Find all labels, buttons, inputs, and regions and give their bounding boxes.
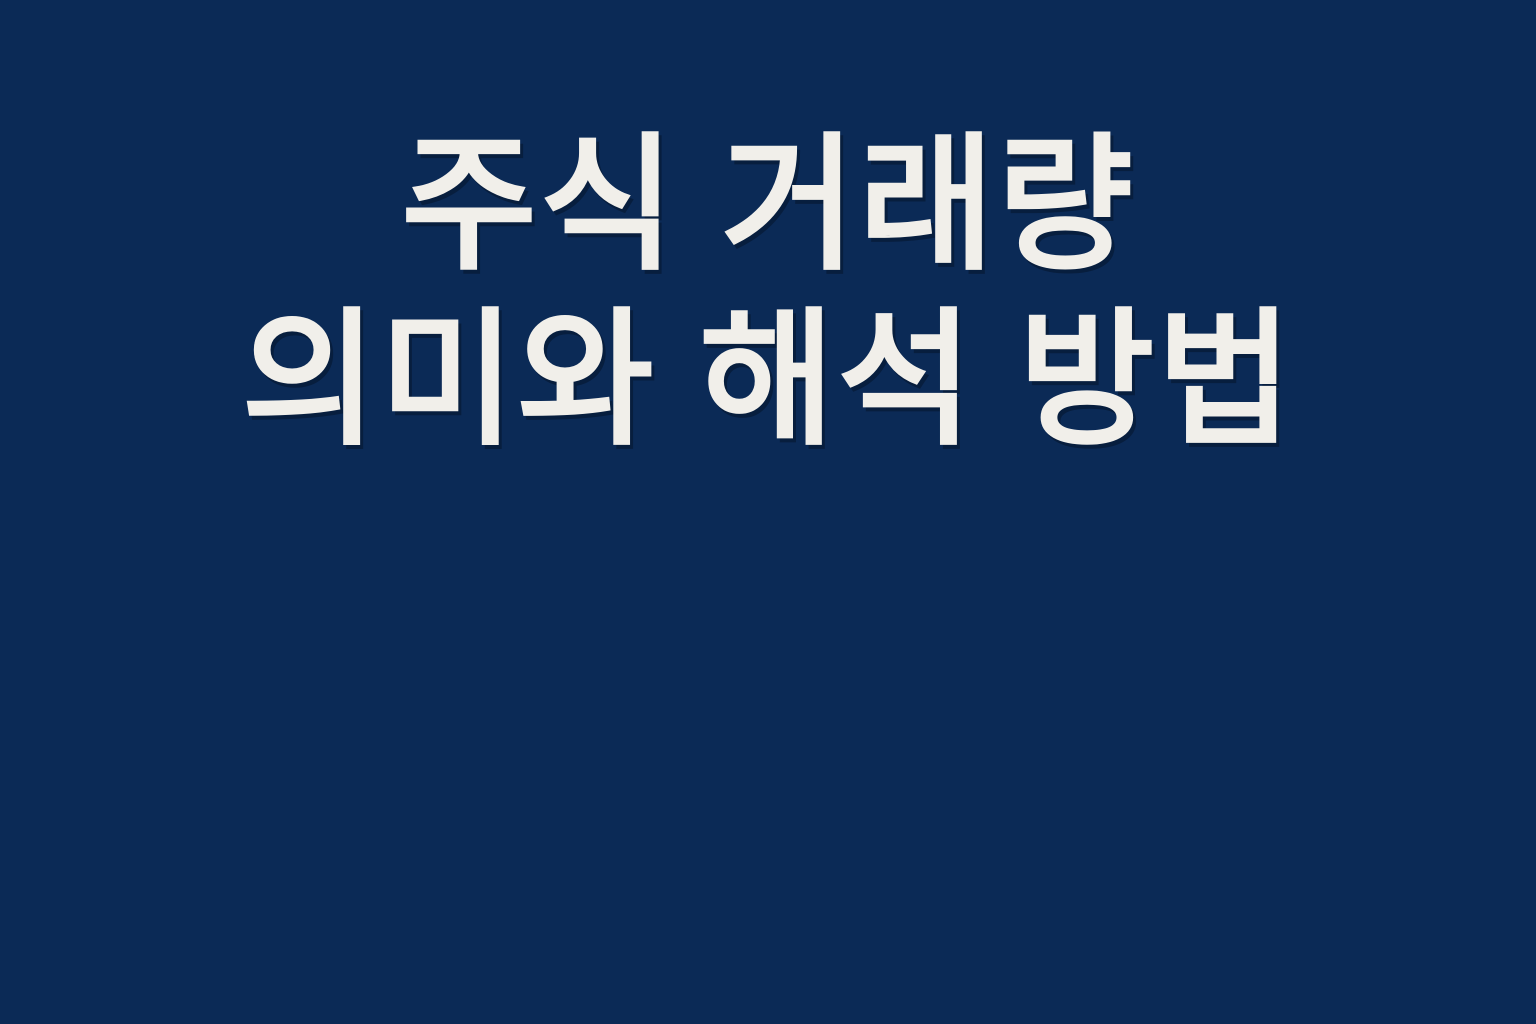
icon-row <box>0 500 1536 840</box>
poster-canvas: 주식 거래량 의미와 해석 방법 <box>0 0 1536 1024</box>
candlestick-chart-icon <box>270 1010 600 1024</box>
page-title: 주식 거래량 의미와 해석 방법 <box>0 118 1536 468</box>
title-line-2: 의미와 해석 방법 <box>0 293 1536 468</box>
title-line-1: 주식 거래량 <box>0 118 1536 293</box>
